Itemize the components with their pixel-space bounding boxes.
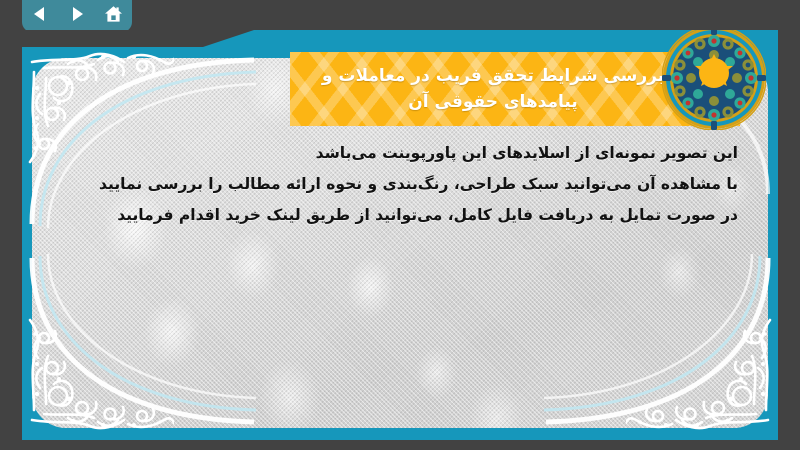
presentation-viewer: بررسی شرایط تحقق فریب در معاملات و پیامد… <box>0 0 800 450</box>
slide-body-text: این تصویر نمونه‌ای از اسلایدهای این پاور… <box>62 138 738 231</box>
body-line-1: این تصویر نمونه‌ای از اسلایدهای این پاور… <box>62 138 738 169</box>
next-slide-button[interactable] <box>64 1 90 27</box>
slide-navigation-bar <box>22 0 132 32</box>
slide-title-line-1: بررسی شرایط تحقق فریب در معاملات و <box>322 63 664 89</box>
home-button[interactable] <box>101 1 127 27</box>
body-line-2: با مشاهده آن می‌توانید سبک طراحی، رنگ‌بن… <box>62 169 738 200</box>
slide-canvas: بررسی شرایط تحقق فریب در معاملات و پیامد… <box>22 30 778 440</box>
home-icon <box>103 4 124 25</box>
previous-slide-button[interactable] <box>27 1 53 27</box>
body-line-3: در صورت تمایل به دریافت فایل کامل، می‌تو… <box>62 200 738 231</box>
triangle-left-icon <box>30 4 50 24</box>
slide-title-line-2: پیامدهای حقوقی آن <box>408 89 577 115</box>
triangle-right-icon <box>67 4 87 24</box>
circular-medallion-ornament <box>662 30 766 130</box>
